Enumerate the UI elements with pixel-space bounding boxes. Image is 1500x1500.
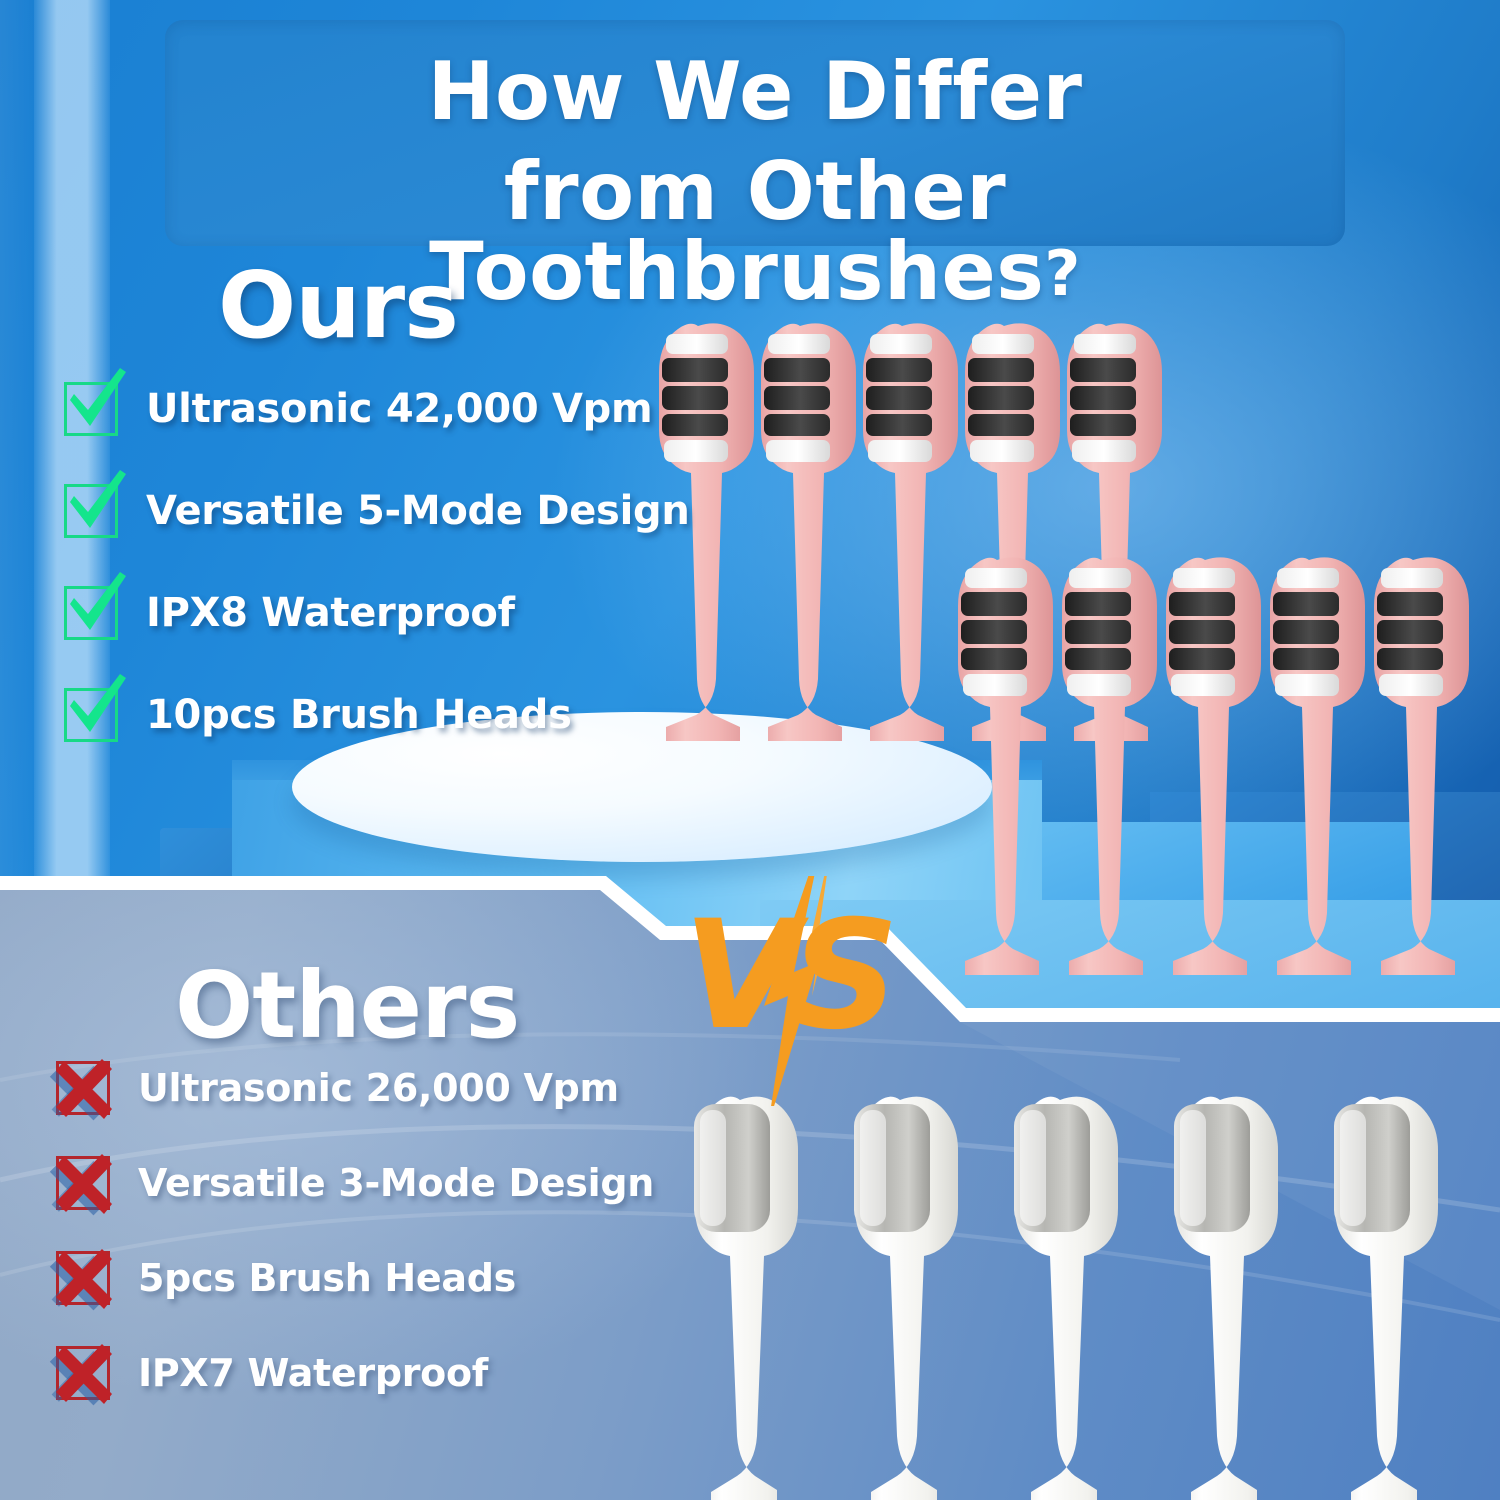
red-cross-icon [50, 1146, 124, 1220]
ours-feature-label: 10pcs Brush Heads [146, 692, 572, 738]
title-line-1: How We Differ [165, 52, 1345, 132]
others-feature-label: 5pcs Brush Heads [138, 1256, 516, 1300]
ours-brush-heads-front-row [955, 552, 1475, 1022]
green-check-icon [58, 372, 132, 446]
green-check-icon [58, 678, 132, 752]
check-mark-glyph [58, 568, 132, 642]
others-feature-label: Versatile 3-Mode Design [138, 1161, 654, 1205]
others-feature-row: Versatile 3-Mode Design [50, 1135, 710, 1230]
check-mark-glyph [58, 364, 132, 438]
ours-feature-row: Versatile 5-Mode Design [58, 460, 698, 562]
green-check-icon [58, 576, 132, 650]
others-feature-row: Ultrasonic 26,000 Vpm [50, 1040, 710, 1135]
ours-feature-label: IPX8 Waterproof [146, 590, 515, 636]
cross-mark-glyph [52, 1342, 118, 1408]
ours-feature-row: 10pcs Brush Heads [58, 664, 698, 766]
ours-heading: Ours [218, 252, 458, 359]
question-mark-glyph: ? [1044, 237, 1080, 310]
title-line-2-text: from Other Toothbrushes [429, 145, 1044, 318]
others-feature-row: IPX7 Waterproof [50, 1325, 710, 1420]
cross-mark-glyph [52, 1152, 118, 1218]
ours-feature-label: Ultrasonic 42,000 Vpm [146, 386, 652, 432]
green-check-icon [58, 474, 132, 548]
ours-feature-row: IPX8 Waterproof [58, 562, 698, 664]
others-feature-label: Ultrasonic 26,000 Vpm [138, 1066, 619, 1110]
check-mark-glyph [58, 670, 132, 744]
check-mark-glyph [58, 466, 132, 540]
others-feature-label: IPX7 Waterproof [138, 1351, 488, 1395]
infographic-canvas: How We Differ from Other Toothbrushes? O… [0, 0, 1500, 1500]
ours-feature-label: Versatile 5-Mode Design [146, 488, 690, 534]
others-feature-row: 5pcs Brush Heads [50, 1230, 710, 1325]
red-cross-icon [50, 1241, 124, 1315]
others-brush-heads-row [686, 1088, 1486, 1500]
cross-mark-glyph [52, 1057, 118, 1123]
red-cross-icon [50, 1051, 124, 1125]
ours-feature-list: Ultrasonic 42,000 Vpm Versatile 5-Mode D… [58, 358, 698, 766]
vs-badge: VS [672, 876, 902, 1076]
ours-feature-row: Ultrasonic 42,000 Vpm [58, 358, 698, 460]
title-card: How We Differ from Other Toothbrushes? [165, 20, 1345, 246]
vs-label: VS [672, 876, 902, 1076]
cross-mark-glyph [52, 1247, 118, 1313]
others-feature-list: Ultrasonic 26,000 Vpm Versatile 3-Mode D… [50, 1040, 710, 1420]
red-cross-icon [50, 1336, 124, 1410]
